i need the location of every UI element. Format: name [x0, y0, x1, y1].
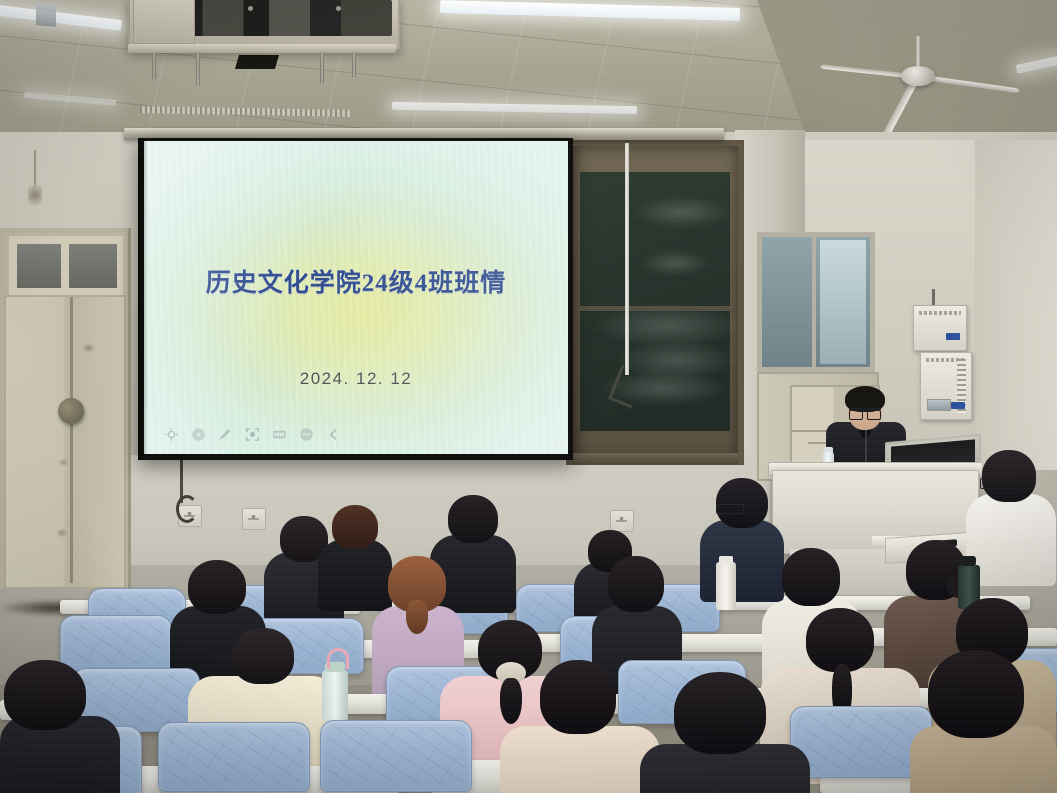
- monitor-reflection: [36, 3, 56, 26]
- more-icon[interactable]: [299, 427, 314, 442]
- rack-rail: [128, 44, 396, 53]
- audience-person: [640, 672, 810, 793]
- person-hair: [928, 650, 1024, 738]
- chalkboard: [566, 140, 744, 465]
- wall-outlet[interactable]: [610, 510, 634, 532]
- rack-indicator: [248, 6, 253, 11]
- box-label-text: [919, 311, 961, 315]
- back-icon[interactable]: [326, 427, 341, 442]
- audience-person: [500, 660, 660, 793]
- thermos-white[interactable]: [716, 562, 736, 610]
- seat[interactable]: [320, 720, 472, 792]
- person-ponytail: [406, 600, 428, 634]
- presenter-glasses: [849, 408, 881, 419]
- door-handle[interactable]: [58, 398, 84, 424]
- coiled-cable: [176, 495, 198, 523]
- coat-zipper: [865, 426, 867, 466]
- transom-pane: [67, 242, 119, 290]
- transom-window: [6, 233, 126, 299]
- water-bottle-pink-strap[interactable]: [322, 670, 348, 722]
- person-hair: [448, 495, 498, 543]
- audience-person: [910, 650, 1057, 793]
- person-hair: [232, 628, 294, 684]
- electric-meter-box: [920, 352, 972, 420]
- seat[interactable]: [158, 722, 310, 792]
- bottle-strap: [327, 648, 349, 669]
- support-rod: [196, 52, 200, 86]
- pointer-icon[interactable]: [164, 427, 179, 442]
- thermos-cap: [719, 556, 733, 564]
- slide-date: 2024. 12. 12: [144, 369, 568, 389]
- chalk-smudge: [640, 250, 710, 276]
- person-hair: [608, 556, 664, 612]
- chalkboard-surface: [580, 172, 730, 431]
- ceiling-fan: [901, 66, 935, 86]
- wall-outlet[interactable]: [242, 508, 266, 530]
- person-coat: [500, 726, 660, 793]
- play-icon[interactable]: [191, 427, 206, 442]
- person-hair: [806, 608, 874, 672]
- slide-canvas: 历史文化学院24级4班班情 2024. 12. 12: [144, 141, 568, 454]
- transom-pane: [15, 242, 63, 290]
- screen-shadow: [138, 138, 148, 460]
- person-glasses: [980, 478, 1012, 489]
- classroom-door[interactable]: [4, 295, 126, 589]
- chalk-smudge: [632, 196, 732, 228]
- seat-graffiti: [797, 713, 925, 771]
- chalk-tray: [572, 453, 738, 465]
- support-rod: [152, 52, 156, 80]
- person-hair: [982, 450, 1036, 502]
- screen-pull-cord[interactable]: [625, 143, 629, 375]
- audience-person: [0, 660, 120, 793]
- pen-icon[interactable]: [218, 427, 233, 442]
- person-hair: [332, 505, 378, 549]
- thermos-cap: [960, 556, 976, 566]
- ceiling-duct: [133, 0, 195, 44]
- door-stain: [60, 460, 67, 465]
- person-hair: [4, 660, 86, 730]
- classroom-photo: 历史文化学院24级4班班情 2024. 12. 12: [0, 0, 1057, 793]
- person-hair: [716, 478, 768, 528]
- chalkboard-divider: [580, 306, 730, 311]
- zoom-icon[interactable]: [245, 427, 260, 442]
- box-indicator: [946, 333, 960, 340]
- seat-graffiti: [327, 727, 465, 785]
- box-indicator: [951, 402, 965, 409]
- wall-pillar: [975, 140, 1057, 470]
- meter-display: [927, 399, 951, 411]
- ceiling-opening: [235, 55, 279, 69]
- door-stain: [84, 345, 93, 351]
- support-rod: [320, 52, 324, 84]
- rack-indicator: [336, 6, 341, 11]
- person-hair: [782, 548, 840, 606]
- door-seam: [70, 297, 73, 583]
- person-hair: [188, 560, 246, 614]
- right-window-pane: [820, 240, 866, 364]
- person-hair: [674, 672, 766, 754]
- window-mullion: [812, 232, 816, 372]
- presentation-toolbar[interactable]: [164, 427, 341, 442]
- slide-title: 历史文化学院24级4班班情: [144, 263, 568, 299]
- ceiling-hook: [28, 185, 42, 205]
- door-stain: [58, 530, 66, 536]
- seat-graffiti: [67, 622, 165, 664]
- person-glasses: [716, 504, 744, 514]
- support-rod: [352, 52, 356, 78]
- control-box-upper: [913, 305, 967, 351]
- subtitles-icon[interactable]: [272, 427, 287, 442]
- fan-stem: [915, 36, 921, 70]
- ceiling-wire: [34, 150, 36, 188]
- seat-graffiti: [165, 729, 303, 785]
- person-hair: [540, 660, 616, 734]
